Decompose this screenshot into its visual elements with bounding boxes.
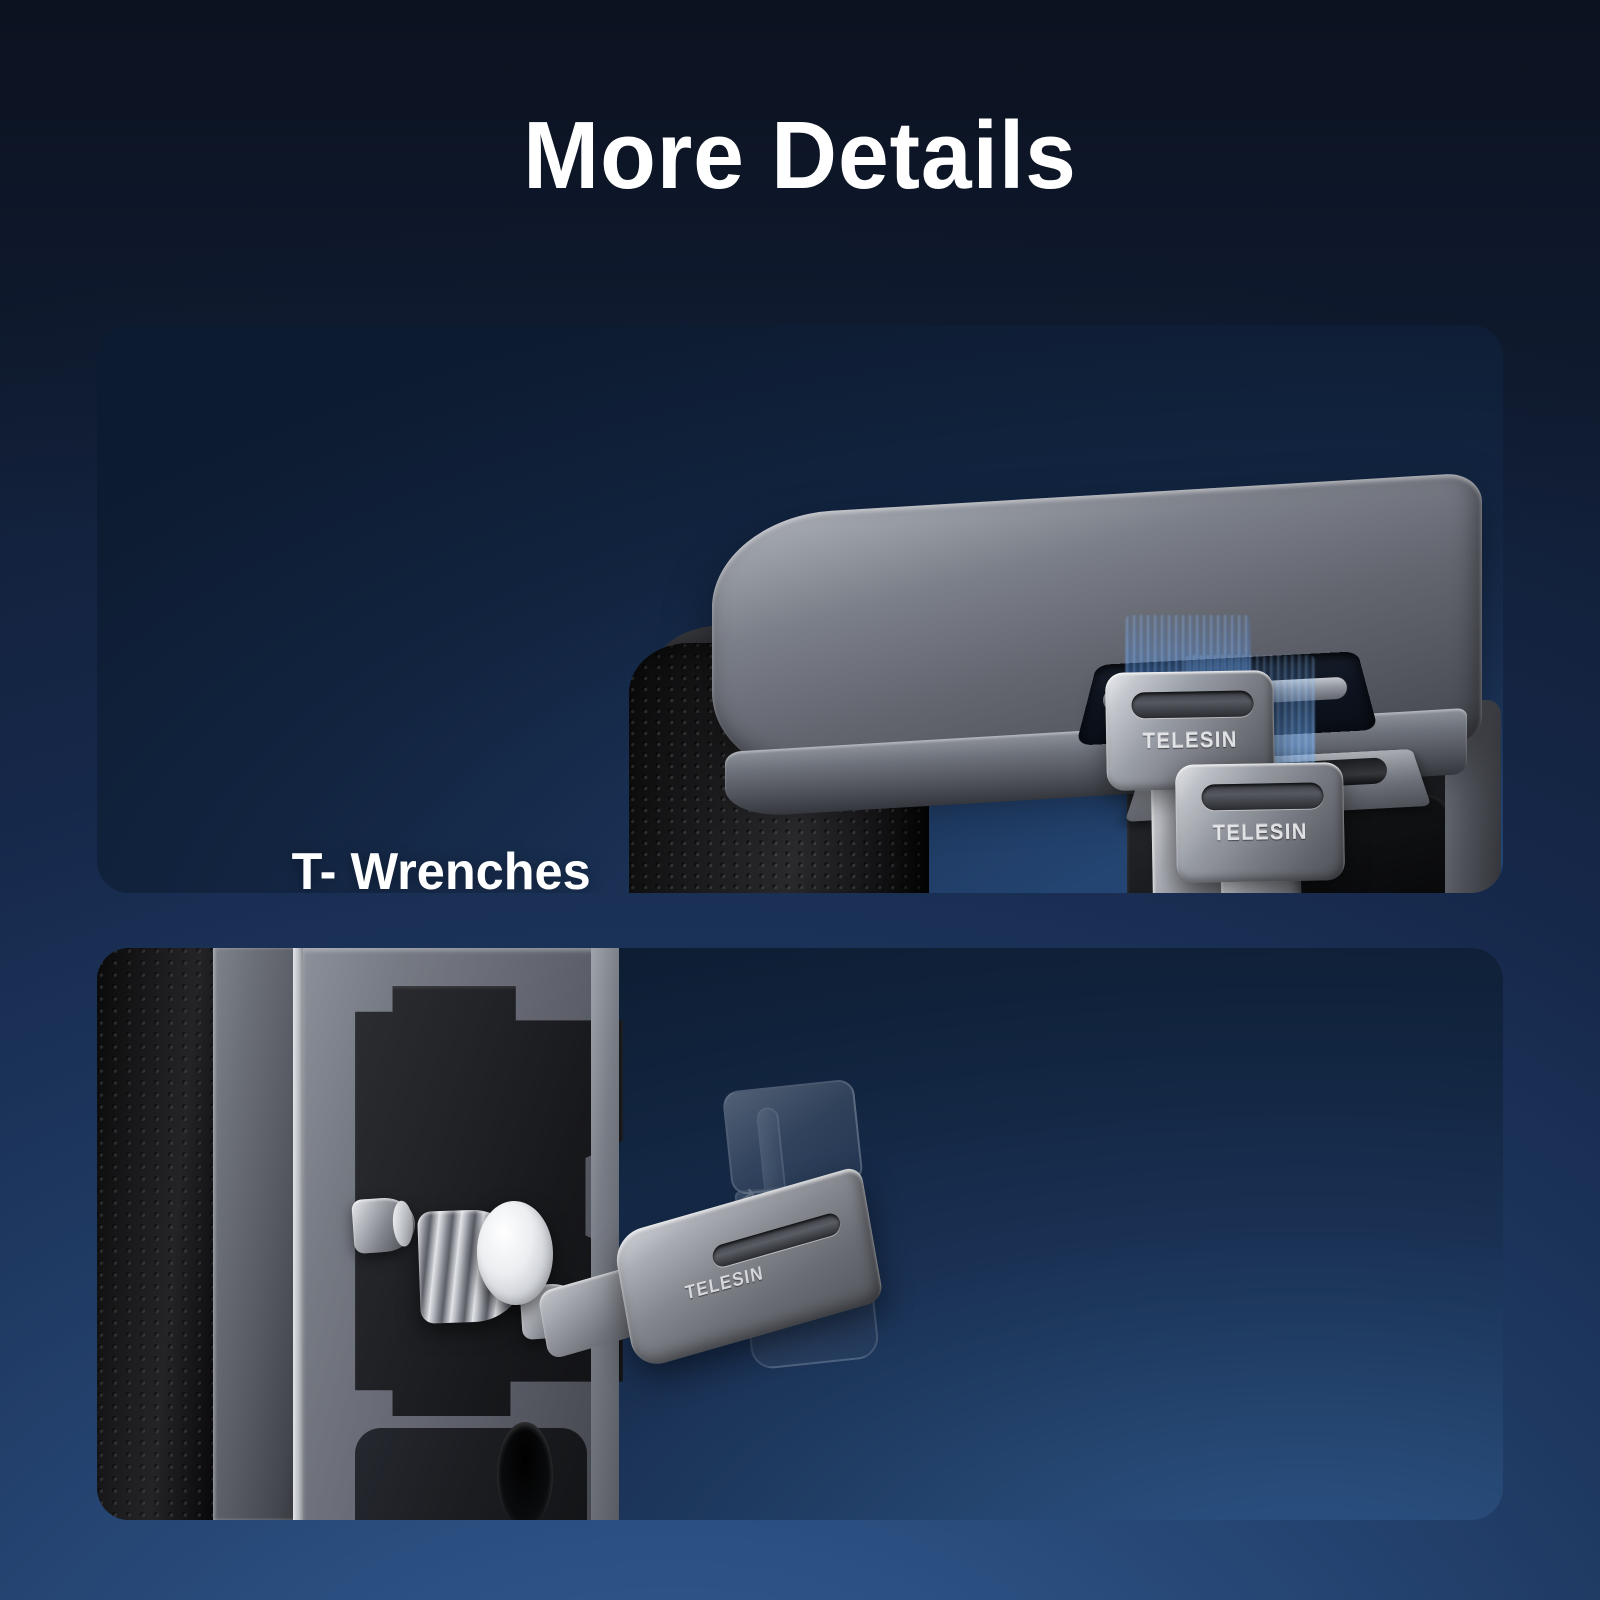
t-wrench-front-brand-label: TELESIN <box>1183 818 1338 847</box>
mounting-hole <box>497 1422 553 1520</box>
arri-locating-pin-upper <box>351 1196 417 1254</box>
product-image-camera-cage-top-plate: TELESIN TELESIN <box>97 325 1503 893</box>
leather-side-grip <box>97 948 213 1520</box>
feature-card-t-wrenches-caption: T- Wrenches ×2 <box>292 840 591 893</box>
t-wrench-front-slot <box>1201 782 1323 810</box>
removable-arri-column-group: TELESIN TELESIN <box>567 1068 987 1488</box>
side-rail-highlight <box>293 948 303 1520</box>
t-wrench-back-slot <box>1131 690 1253 718</box>
caption-line-1: T- Wrenches <box>292 840 591 893</box>
product-image-cage-side-plate: TELESIN TELESIN <box>97 948 1503 1520</box>
product-detail-page: More Details TELESIN <box>0 0 1600 1600</box>
feature-card-t-wrenches: TELESIN TELESIN T- Wrenches ×2 <box>97 325 1503 893</box>
feature-card-arri-column: TELESIN TELESIN Removable ARRI Positioni… <box>97 948 1503 1520</box>
side-rail <box>213 948 297 1520</box>
page-title: More Details <box>40 108 1560 204</box>
t-wrench-back-brand-label: TELESIN <box>1113 726 1268 755</box>
